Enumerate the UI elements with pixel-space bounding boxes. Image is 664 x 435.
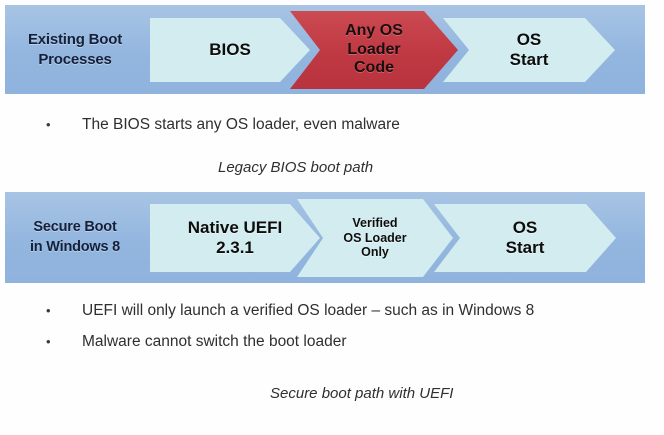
- bullet-marker-icon: •: [40, 114, 82, 136]
- bullet-marker-icon: •: [40, 331, 82, 353]
- flow-existing-boot: BIOS Any OS Loader Code OS Start: [145, 5, 645, 94]
- bullet-text: The BIOS starts any OS loader, even malw…: [82, 114, 552, 136]
- flow-step-native-uefi-line-2: 2.3.1: [188, 238, 282, 258]
- flow-step-verified-os-loader-only: Verified OS Loader Only: [297, 199, 453, 277]
- caption-secure-boot-path-with-uefi: Secure boot path with UEFI: [270, 385, 453, 402]
- flow-step-os-start-secure-label: OS Start: [506, 218, 545, 258]
- flow-step-os-start-secure-line-1: OS: [506, 218, 545, 238]
- bullet-marker-icon: •: [40, 300, 82, 322]
- flow-step-verified-os-loader-only-line-1: Verified: [343, 216, 406, 231]
- bullet-text: Malware cannot switch the boot loader: [82, 331, 552, 353]
- bullet-item: • Malware cannot switch the boot loader: [40, 331, 640, 353]
- flow-step-any-os-loader-code-line-1: Any OS: [345, 22, 403, 41]
- slide-canvas: Existing Boot Processes BIOS Any OS Load…: [0, 0, 664, 435]
- banner-label-line-1: Secure Boot: [5, 218, 145, 237]
- flow-step-any-os-loader-code-line-2: Loader: [345, 41, 403, 60]
- banner-label-secure-boot: Secure Boot in Windows 8: [5, 218, 145, 256]
- flow-step-verified-os-loader-only-line-2: OS Loader: [343, 231, 406, 246]
- flow-step-any-os-loader-code-line-3: Code: [345, 59, 403, 78]
- banner-label-line-2: in Windows 8: [5, 238, 145, 257]
- bullet-item: • UEFI will only launch a verified OS lo…: [40, 300, 640, 322]
- diagram-banner-secure-boot: Secure Boot in Windows 8 Native UEFI 2.3…: [5, 192, 645, 283]
- flow-step-os-start-secure: OS Start: [434, 204, 616, 272]
- bullet-item: • The BIOS starts any OS loader, even ma…: [40, 114, 640, 136]
- flow-step-verified-os-loader-only-line-3: Only: [343, 245, 406, 260]
- flow-step-native-uefi-label: Native UEFI 2.3.1: [188, 218, 282, 258]
- diagram-banner-existing-boot: Existing Boot Processes BIOS Any OS Load…: [5, 5, 645, 94]
- flow-step-os-start-legacy-line-1: OS: [510, 30, 549, 50]
- flow-step-native-uefi: Native UEFI 2.3.1: [150, 204, 320, 272]
- flow-step-bios: BIOS: [150, 18, 310, 82]
- banner-label-existing-boot: Existing Boot Processes: [5, 30, 145, 70]
- bullet-text: UEFI will only launch a verified OS load…: [82, 300, 552, 322]
- banner-label-line-2: Processes: [5, 50, 145, 70]
- flow-step-bios-line-1: BIOS: [209, 40, 251, 60]
- flow-step-any-os-loader-code-label: Any OS Loader Code: [345, 22, 403, 79]
- bullet-list-secure-boot: • UEFI will only launch a verified OS lo…: [40, 300, 640, 362]
- flow-step-native-uefi-line-1: Native UEFI: [188, 218, 282, 238]
- flow-step-os-start-legacy-line-2: Start: [510, 50, 549, 70]
- flow-step-bios-label: BIOS: [209, 40, 251, 60]
- flow-step-os-start-legacy-label: OS Start: [510, 30, 549, 70]
- flow-step-any-os-loader-code: Any OS Loader Code: [290, 11, 458, 89]
- caption-legacy-bios-boot-path: Legacy BIOS boot path: [218, 159, 373, 176]
- flow-step-verified-os-loader-only-label: Verified OS Loader Only: [343, 216, 406, 260]
- bullet-list-existing-boot: • The BIOS starts any OS loader, even ma…: [40, 114, 640, 145]
- banner-label-line-1: Existing Boot: [5, 30, 145, 50]
- flow-secure-boot: Native UEFI 2.3.1 Verified OS Loader Onl…: [145, 192, 645, 283]
- flow-step-os-start-secure-line-2: Start: [506, 238, 545, 258]
- flow-step-os-start-legacy: OS Start: [443, 18, 615, 82]
